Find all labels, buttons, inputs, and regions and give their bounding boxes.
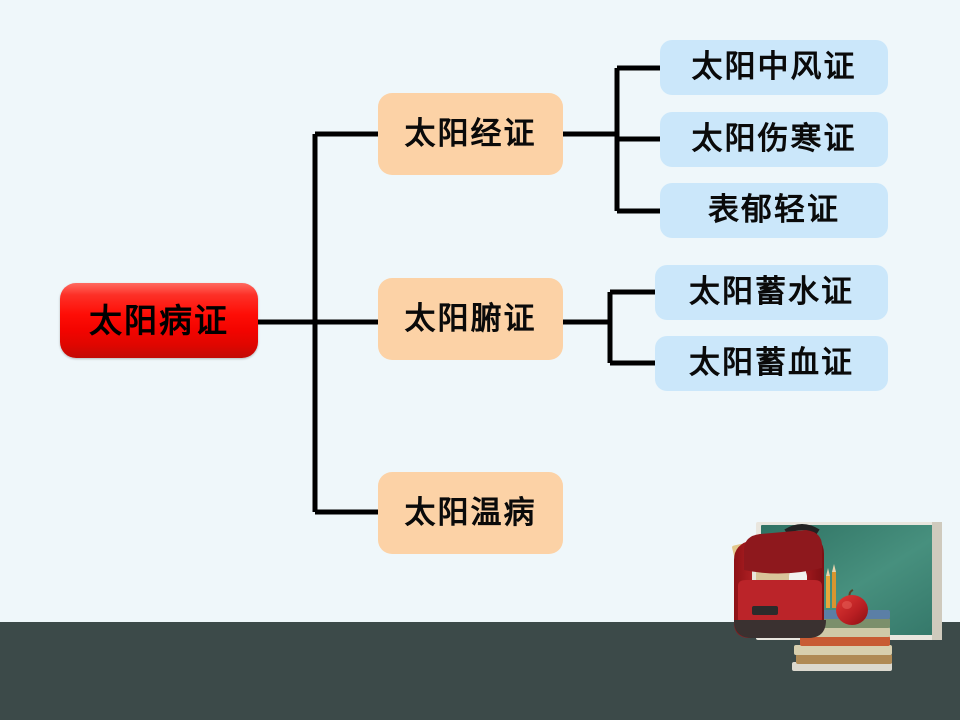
node-label: 太阳温病 <box>405 498 537 529</box>
slide-canvas: 太阳病证 太阳经证 太阳腑证 太阳温病 太阳中风证 太阳伤寒证 表郁轻证 太阳蓄… <box>0 0 960 720</box>
node-branch-taiyang-fuzheng[interactable]: 太阳腑证 <box>378 278 563 360</box>
node-label: 太阳腑证 <box>405 304 537 335</box>
backpack-icon <box>732 527 836 638</box>
node-leaf-taiyang-shanghanzheng[interactable]: 太阳伤寒证 <box>660 112 888 167</box>
node-leaf-biaoyu-qingzheng[interactable]: 表郁轻证 <box>660 183 888 238</box>
node-leaf-taiyang-xushuizheng[interactable]: 太阳蓄水证 <box>655 265 888 320</box>
node-branch-taiyang-wenbing[interactable]: 太阳温病 <box>378 472 563 554</box>
school-supplies-illustration <box>700 520 960 720</box>
node-label: 表郁轻证 <box>708 195 840 226</box>
node-label: 太阳蓄血证 <box>689 348 854 379</box>
node-branch-taiyang-jingzheng[interactable]: 太阳经证 <box>378 93 563 175</box>
node-label: 太阳伤寒证 <box>692 124 857 155</box>
node-label: 太阳病证 <box>89 304 229 337</box>
node-label: 太阳中风证 <box>692 52 857 83</box>
node-label: 太阳经证 <box>405 119 537 150</box>
node-leaf-taiyang-xuxuezheng[interactable]: 太阳蓄血证 <box>655 336 888 391</box>
node-root-taiyang-bingzheng[interactable]: 太阳病证 <box>60 283 258 358</box>
node-label: 太阳蓄水证 <box>689 277 854 308</box>
node-leaf-taiyang-zhongfengzheng[interactable]: 太阳中风证 <box>660 40 888 95</box>
